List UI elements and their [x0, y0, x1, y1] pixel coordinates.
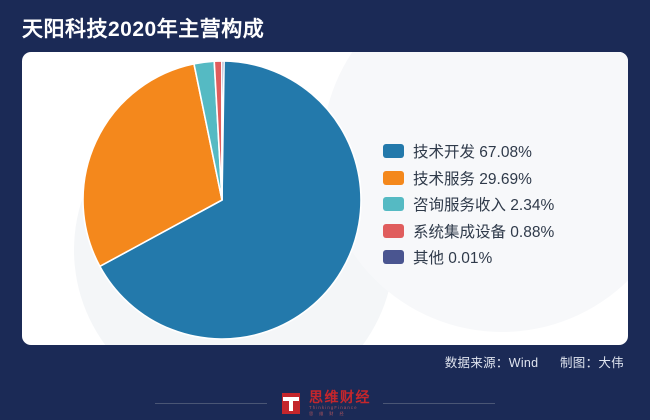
divider-left: [155, 403, 267, 404]
legend-item-label: 其他 0.01%: [413, 246, 492, 268]
divider-right: [383, 403, 495, 404]
brand-logo: 思维财经 ThinkingFinance 思 维 财 经: [279, 390, 371, 417]
t-logo-icon: [279, 393, 303, 414]
page-title: 天阳科技2020年主营构成: [22, 8, 622, 48]
brand-footer: 思维财经 ThinkingFinance 思 维 财 经: [0, 386, 650, 420]
legend-swatch-icon: [383, 144, 404, 158]
chart-credit-label: 制图：大伟: [560, 356, 624, 370]
legend-item-label: 技术开发 67.08%: [413, 140, 532, 162]
legend-swatch-icon: [383, 224, 404, 238]
chart-legend: 技术开发 67.08% 技术服务 29.69% 咨询服务收入 2.34% 系统集…: [383, 138, 618, 271]
legend-item-label: 咨询服务收入 2.34%: [413, 193, 554, 215]
pie-chart: [82, 60, 362, 340]
legend-item-label: 系统集成设备 0.88%: [413, 220, 554, 242]
brand-logo-text: 思维财经 ThinkingFinance 思 维 财 经: [309, 390, 371, 417]
brand-name-cn-sub: 思 维 财 经: [309, 411, 371, 417]
legend-item-technology-service[interactable]: 技术服务 29.69%: [383, 165, 618, 192]
source-credit-line: 数据来源：Wind 制图：大伟: [445, 352, 624, 371]
legend-swatch-icon: [383, 171, 404, 185]
legend-item-other[interactable]: 其他 0.01%: [383, 244, 618, 271]
legend-swatch-icon: [383, 197, 404, 211]
legend-item-label: 技术服务 29.69%: [413, 167, 532, 189]
brand-name-cn: 思维财经: [309, 390, 371, 405]
legend-item-consulting-revenue[interactable]: 咨询服务收入 2.34%: [383, 191, 618, 218]
data-source-label: 数据来源：Wind: [445, 356, 539, 370]
legend-swatch-icon: [383, 250, 404, 264]
pie-chart-svg: [82, 60, 362, 340]
legend-item-technology-development[interactable]: 技术开发 67.08%: [383, 138, 618, 165]
legend-item-system-integration[interactable]: 系统集成设备 0.88%: [383, 218, 618, 245]
chart-card: 技术开发 67.08% 技术服务 29.69% 咨询服务收入 2.34% 系统集…: [22, 52, 628, 345]
